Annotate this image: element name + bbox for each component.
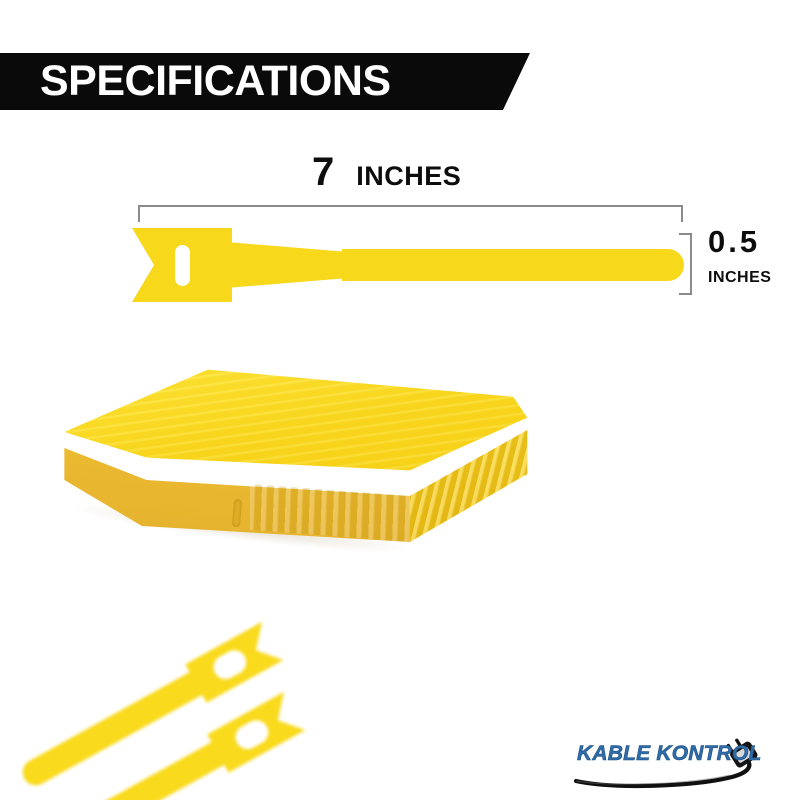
length-value: 7 xyxy=(312,152,334,192)
page-title: SPECIFICATIONS xyxy=(40,60,391,103)
brand-logo: KABLE KONTROL xyxy=(572,737,787,789)
tie-slot xyxy=(175,245,190,286)
width-label: 0.5 INCHES xyxy=(708,226,771,286)
brand-name: KABLE KONTROL xyxy=(577,742,762,766)
length-unit: INCHES xyxy=(356,163,461,190)
bottom-cable-ties-image xyxy=(0,588,290,800)
width-unit: INCHES xyxy=(708,270,771,286)
stacked-cable-ties-image xyxy=(62,368,532,568)
width-value: 0.5 xyxy=(708,226,771,257)
single-cable-tie-image xyxy=(132,228,684,302)
length-bracket xyxy=(138,205,683,222)
tie-neck xyxy=(226,242,350,288)
tie-strap xyxy=(342,249,684,281)
specifications-page: SPECIFICATIONS 7 INCHES 0.5 INCHES xyxy=(0,0,800,800)
length-label: 7 INCHES xyxy=(312,152,461,192)
header-banner: SPECIFICATIONS xyxy=(0,53,530,110)
